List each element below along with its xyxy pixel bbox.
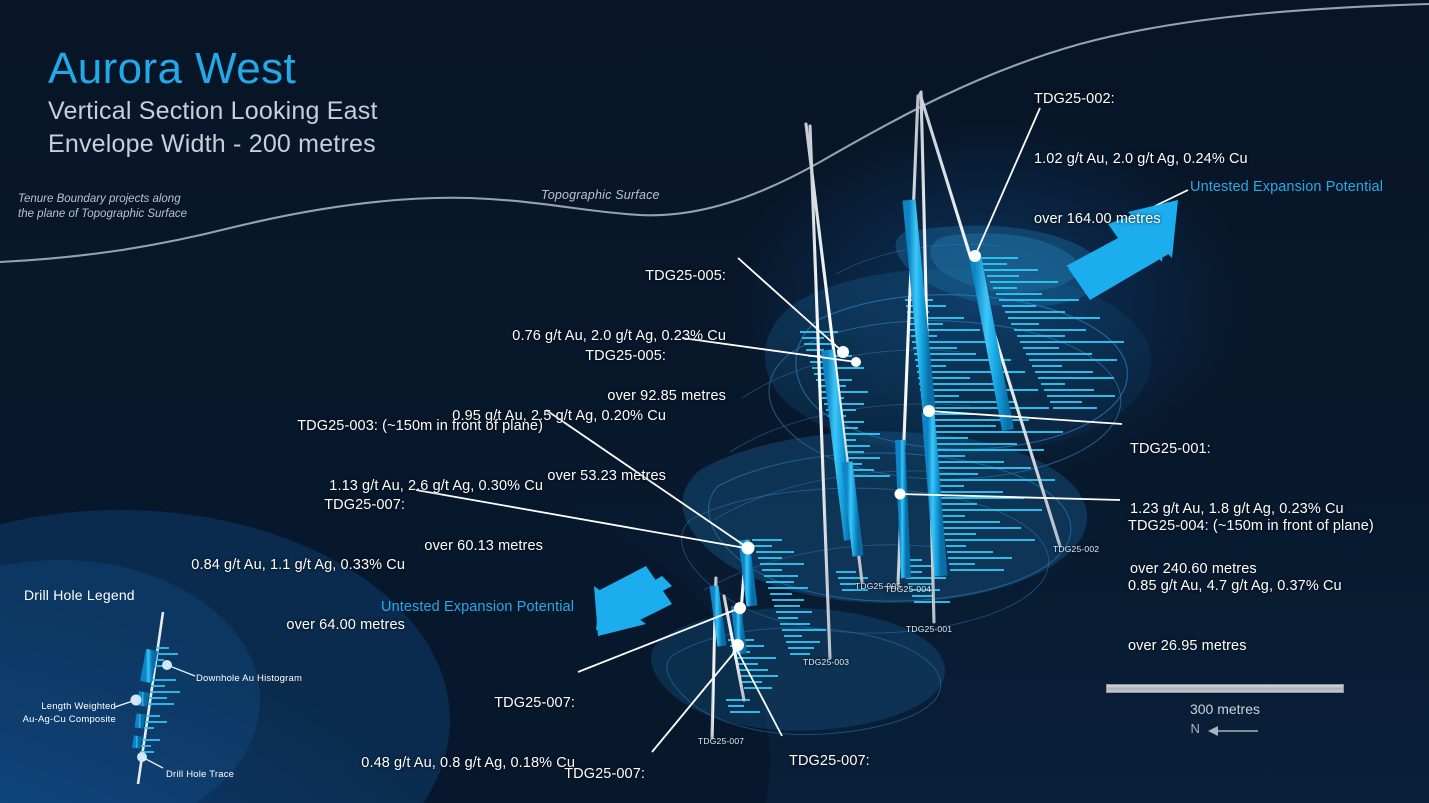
annotation-hole-id: TDG25-007: <box>789 751 1003 771</box>
annotation-tdg25-004: TDG25-004: (~150m in front of plane) 0.8… <box>1128 476 1374 696</box>
tenure-boundary-note: Tenure Boundary projects along the plane… <box>18 192 187 222</box>
annotation-interval: over 26.95 metres <box>1128 636 1374 656</box>
annotation-tdg25-007-low: TDG25-007: 0.87 g/t Au, 1.5 g/t Ag, 0.22… <box>360 724 645 803</box>
annotation-hole-id: TDG25-004: (~150m in front of plane) <box>1128 516 1374 536</box>
scale-bar-label: 300 metres <box>1106 701 1344 717</box>
topographic-surface-label: Topographic Surface <box>541 188 660 202</box>
subtitle-line-2: Envelope Width - 200 metres <box>48 129 378 160</box>
annotation-hole-id: TDG25-001: <box>1130 439 1344 459</box>
annotation-tdg25-002-top: TDG25-002: 1.02 g/t Au, 2.0 g/t Ag, 0.24… <box>1034 49 1248 269</box>
vertical-section-figure: Aurora West Vertical Section Looking Eas… <box>0 0 1429 803</box>
legend-label-drill-hole-trace: Drill Hole Trace <box>166 768 234 781</box>
title-block: Aurora West Vertical Section Looking Eas… <box>48 44 378 160</box>
annotation-tdg25-007-upper: TDG25-007: 0.84 g/t Au, 1.1 g/t Ag, 0.33… <box>120 455 405 675</box>
north-letter: N <box>1190 721 1199 736</box>
hole-id-tdg25-002: TDG25-002 <box>1053 544 1099 554</box>
annotation-interval: over 64.00 metres <box>120 615 405 635</box>
hole-id-tdg25-004: TDG25-004 <box>885 584 931 594</box>
annotation-grades: 0.85 g/t Au, 4.7 g/t Ag, 0.37% Cu <box>1128 576 1374 596</box>
north-arrow-label: N <box>1106 721 1344 736</box>
untested-expansion-potential-left: Untested Expansion Potential <box>381 599 574 615</box>
annotation-hole-id: TDG25-002: <box>1034 89 1248 109</box>
annotation-hole-id: TDG25-005: <box>440 266 726 286</box>
hole-id-tdg25-001: TDG25-001 <box>906 624 952 634</box>
hole-id-tdg25-003: TDG25-003 <box>803 657 849 667</box>
annotation-hole-id: TDG25-003: (~150m in front of plane) <box>240 416 543 436</box>
subtitle-line-1: Vertical Section Looking East <box>48 96 378 127</box>
page-title: Aurora West <box>48 44 378 94</box>
legend-label-downhole-au-histogram: Downhole Au Histogram <box>196 672 302 685</box>
annotation-grades: 1.02 g/t Au, 2.0 g/t Ag, 0.24% Cu <box>1034 149 1248 169</box>
annotation-interval: over 164.00 metres <box>1034 209 1248 229</box>
hole-id-tdg25-007: TDG25-007 <box>698 736 744 746</box>
scale-bar <box>1106 684 1344 693</box>
annotation-grades: 0.84 g/t Au, 1.1 g/t Ag, 0.33% Cu <box>120 555 405 575</box>
annotation-hole-id: TDG25-007: <box>120 495 405 515</box>
annotation-hole-id: TDG25-007: <box>360 764 645 784</box>
annotation-hole-id: TDG25-005: <box>380 346 666 366</box>
legend-title: Drill Hole Legend <box>24 587 135 603</box>
annotation-hole-id: TDG25-007: <box>290 693 575 713</box>
legend-label-length-weighted-composite: Length Weighted Au-Ag-Cu Composite <box>20 700 116 726</box>
annotation-tdg25-007-right: TDG25-007: 0.59 g/t Au, 1.8 g/t Ag, 0.25… <box>789 711 1003 803</box>
